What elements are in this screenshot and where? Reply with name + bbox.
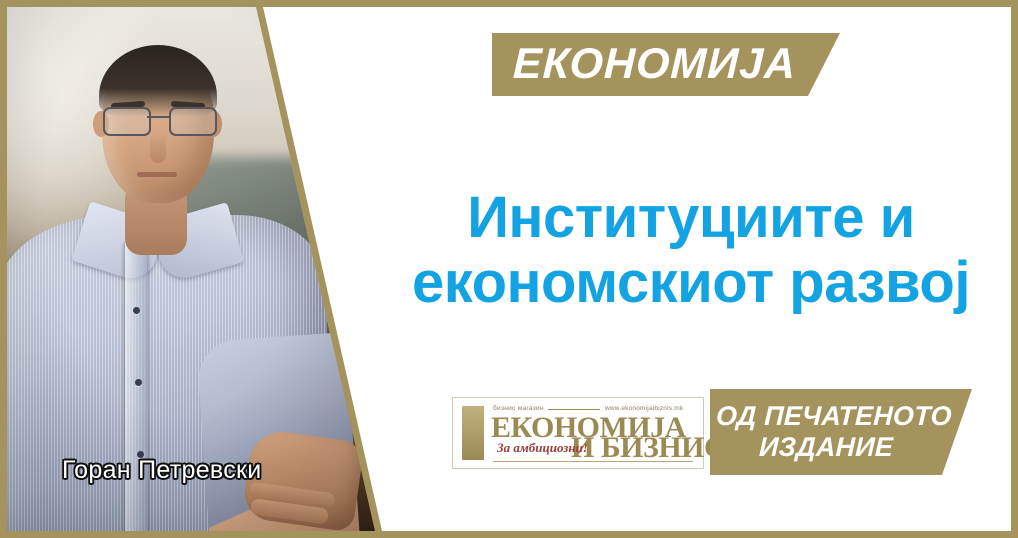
print-banner-line-1: ОД ПЕЧАТЕНОТО — [716, 401, 953, 432]
logo-wordmark-line-2: И БИЗНИС — [571, 431, 725, 465]
frame-border-bottom — [0, 531, 1018, 538]
category-banner[interactable]: ЕКОНОМИЈА — [492, 33, 840, 96]
logo-slogan: За амбициозни! — [497, 440, 588, 456]
headline-line-2: економскиот развој — [386, 251, 996, 316]
portrait-photo — [7, 7, 387, 531]
photo-vignette — [7, 7, 387, 531]
article-banner-card: Горан Петревски ЕКОНОМИЈА Институциите и… — [0, 0, 1018, 538]
article-headline: Институциите и економскиот развој — [386, 186, 996, 316]
logo-divider-rule — [548, 409, 600, 410]
print-edition-banner[interactable]: ОД ПЕЧАТЕНОТО ИЗДАНИЕ — [710, 389, 972, 475]
frame-border-left — [0, 0, 7, 538]
headline-line-1: Институциите и — [467, 185, 915, 250]
logo-gold-bar — [462, 406, 484, 460]
frame-border-right — [1011, 0, 1018, 538]
frame-border-top — [0, 0, 1018, 7]
print-banner-line-2: ИЗДАНИЕ — [758, 432, 893, 463]
photo-caption-name: Горан Петревски — [62, 456, 262, 485]
category-banner-label: ЕКОНОМИЈА — [513, 40, 798, 89]
magazine-logo[interactable]: бизнис магазин www.ekonomijaibiznis.mk Е… — [452, 397, 704, 469]
logo-underline — [493, 461, 693, 462]
